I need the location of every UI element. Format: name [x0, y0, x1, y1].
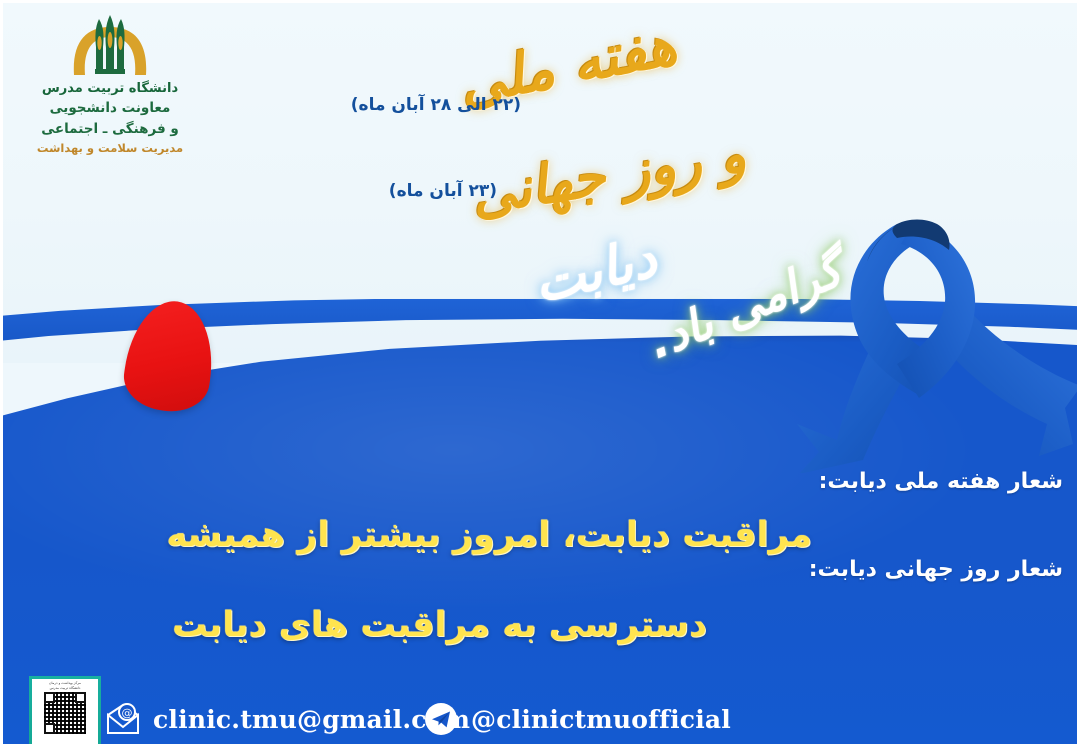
university-logo-block: دانشگاه تربیت مدرس معاونت دانشجویی و فره…: [25, 13, 195, 155]
qr-code-card[interactable]: مرکز بهداشت و درمان دانشگاه تربیت مدرس: [29, 676, 101, 747]
world-slogan-label: شعار روز جهانی دیابت:: [809, 557, 1063, 582]
qr-caption-line-2: دانشگاه تربیت مدرس: [50, 686, 81, 691]
department-line-1: معاونت دانشجویی: [25, 99, 195, 117]
tarbiat-modares-university-emblem: [25, 13, 195, 79]
blue-awareness-ribbon: [797, 208, 1077, 473]
health-unit-name: مدیریت سلامت و بهداشت: [25, 141, 195, 155]
qr-eye-bottom-left: [44, 723, 55, 734]
diabetes-awareness-poster: دانشگاه تربیت مدرس معاونت دانشجویی و فره…: [0, 0, 1080, 747]
headline-national-week-date: (۲۲ الی ۲۸ آبان ماه): [351, 95, 521, 115]
telegram-handle: @clinictmuofficial: [471, 705, 731, 734]
qr-code-icon: [44, 692, 86, 734]
qr-eye-top-right: [75, 692, 86, 703]
qr-code-inner: مرکز بهداشت و درمان دانشگاه تربیت مدرس: [32, 679, 98, 744]
contact-telegram[interactable]: @clinictmuofficial: [423, 701, 731, 737]
email-envelope-at-icon: @: [105, 701, 141, 737]
contact-email[interactable]: @ clinic.tmu@gmail.com: [105, 701, 470, 737]
telegram-icon: [423, 701, 459, 737]
national-slogan-label: شعار هفته ملی دیابت:: [819, 469, 1063, 494]
svg-text:@: @: [122, 707, 133, 720]
department-line-2: و فرهنگی ـ اجتماعی: [25, 120, 195, 138]
national-slogan-text: مراقبت دیابت، امروز بیشتر از همیشه: [166, 515, 812, 555]
university-name: دانشگاه تربیت مدرس: [25, 81, 195, 96]
ribbon-graphic: [797, 208, 1077, 473]
qr-eye-top-left: [44, 692, 55, 703]
world-slogan-text: دسترسی به مراقبت های دیابت: [172, 605, 707, 645]
headline-world-day-date: (۲۳ آبان ماه): [389, 181, 497, 201]
